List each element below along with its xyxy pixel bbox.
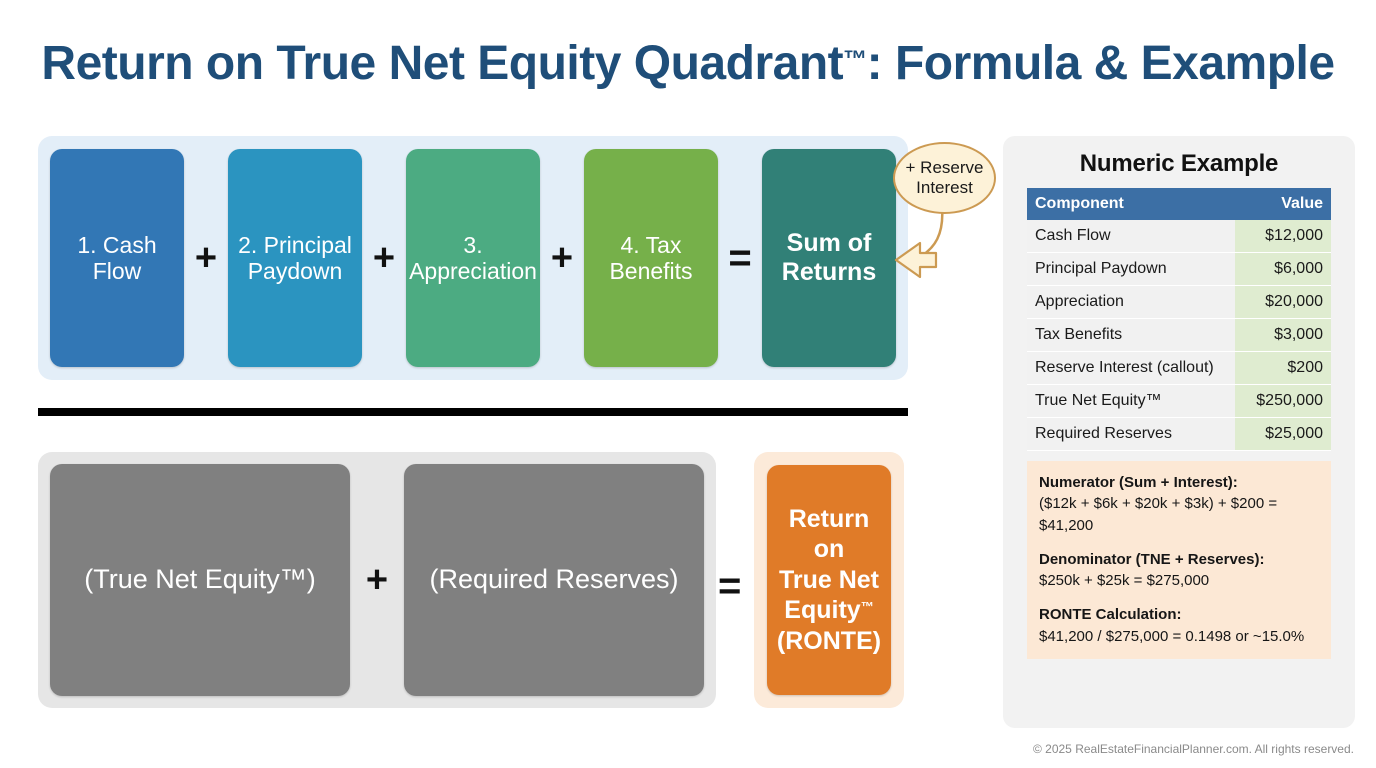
operator-plus-1: +: [189, 237, 223, 280]
row-component: Reserve Interest (callout): [1027, 352, 1235, 385]
note-denominator: Denominator (TNE + Reserves): $250k + $2…: [1039, 549, 1319, 592]
card-tax-benefits-label: 4. Tax Benefits: [584, 232, 718, 285]
note-ronte-heading: RONTE Calculation:: [1039, 606, 1182, 623]
note-numerator-heading: Numerator (Sum + Interest):: [1039, 474, 1238, 491]
row-component: Cash Flow: [1027, 220, 1235, 253]
row-component: Tax Benefits: [1027, 319, 1235, 352]
ronte-line-3: Equity: [784, 596, 860, 624]
table-row: Appreciation $20,000: [1027, 286, 1331, 319]
numeric-example-table: Component Value Cash Flow $12,000 Princi…: [1027, 188, 1331, 451]
operator-plus-2: +: [367, 237, 401, 280]
operator-plus-3: +: [545, 237, 579, 280]
operator-equals-top: =: [723, 236, 757, 281]
card-sum-of-returns-label: Sum of Returns: [762, 229, 896, 287]
card-true-net-equity-label: (True Net Equity™): [84, 564, 316, 595]
note-denominator-heading: Denominator (TNE + Reserves):: [1039, 551, 1264, 568]
row-value: $12,000: [1235, 220, 1331, 253]
card-ronte-result[interactable]: Return on True Net Equity™ (RONTE): [767, 465, 891, 695]
table-row: Required Reserves $25,000: [1027, 418, 1331, 451]
table-header-value: Value: [1235, 188, 1331, 220]
note-ronte-body: $41,200 / $275,000 = 0.1498 or ~15.0%: [1039, 628, 1304, 645]
row-component: Principal Paydown: [1027, 253, 1235, 286]
callout-arrow-icon: [880, 205, 990, 295]
numeric-example-panel: Numeric Example Component Value Cash Flo…: [1003, 136, 1355, 728]
calculation-notes: Numerator (Sum + Interest): ($12k + $6k …: [1027, 461, 1331, 659]
row-value: $6,000: [1235, 253, 1331, 286]
card-cash-flow-label: 1. Cash Flow: [50, 232, 184, 285]
row-component: True Net Equity™: [1027, 385, 1235, 418]
row-value: $25,000: [1235, 418, 1331, 451]
row-value: $20,000: [1235, 286, 1331, 319]
note-denominator-body: $250k + $25k = $275,000: [1039, 572, 1209, 589]
operator-plus-bottom: +: [360, 559, 394, 602]
card-true-net-equity[interactable]: (True Net Equity™): [50, 464, 350, 696]
row-value: $250,000: [1235, 385, 1331, 418]
table-row: Principal Paydown $6,000: [1027, 253, 1331, 286]
bottom-formula-band: (True Net Equity™) + (Required Reserves): [38, 452, 716, 708]
panel-title: Numeric Example: [1027, 150, 1331, 178]
operator-equals-bottom: =: [718, 564, 741, 609]
ronte-line-4: (RONTE): [777, 627, 881, 655]
card-appreciation[interactable]: 3. Appreciation: [406, 149, 540, 367]
infographic-page: Return on True Net Equity Quadrant™: For…: [0, 0, 1376, 768]
card-sum-of-returns[interactable]: Sum of Returns: [762, 149, 896, 367]
table-row: Reserve Interest (callout) $200: [1027, 352, 1331, 385]
ronte-trademark-symbol: ™: [861, 599, 874, 614]
table-header-row: Component Value: [1027, 188, 1331, 220]
row-value: $3,000: [1235, 319, 1331, 352]
reserve-interest-callout-label: + Reserve Interest: [895, 158, 994, 198]
trademark-symbol: ™: [843, 46, 867, 73]
card-principal-paydown[interactable]: 2. Principal Paydown: [228, 149, 362, 367]
table-row: True Net Equity™ $250,000: [1027, 385, 1331, 418]
table-row: Tax Benefits $3,000: [1027, 319, 1331, 352]
ronte-line-1: Return on: [789, 505, 870, 564]
note-numerator-body: ($12k + $6k + $20k + $3k) + $200 = $41,2…: [1039, 495, 1277, 533]
card-cash-flow[interactable]: 1. Cash Flow: [50, 149, 184, 367]
table-header-component: Component: [1027, 188, 1235, 220]
reserve-interest-callout[interactable]: + Reserve Interest: [893, 142, 996, 214]
row-component: Appreciation: [1027, 286, 1235, 319]
row-value: $200: [1235, 352, 1331, 385]
page-title-main: Return on True Net Equity Quadrant: [41, 37, 843, 90]
page-title: Return on True Net Equity Quadrant™: For…: [0, 36, 1376, 91]
card-required-reserves[interactable]: (Required Reserves): [404, 464, 704, 696]
page-title-suffix: : Formula & Example: [867, 37, 1335, 90]
ronte-result-band: Return on True Net Equity™ (RONTE): [754, 452, 904, 708]
copyright-footer: © 2025 RealEstateFinancialPlanner.com. A…: [1033, 742, 1354, 756]
note-ronte: RONTE Calculation: $41,200 / $275,000 = …: [1039, 604, 1319, 647]
card-appreciation-label: 3. Appreciation: [406, 232, 540, 285]
top-formula-band: 1. Cash Flow + 2. Principal Paydown + 3.…: [38, 136, 908, 380]
note-numerator: Numerator (Sum + Interest): ($12k + $6k …: [1039, 472, 1319, 536]
card-principal-paydown-label: 2. Principal Paydown: [228, 232, 362, 285]
card-tax-benefits[interactable]: 4. Tax Benefits: [584, 149, 718, 367]
ronte-line-2: True Net: [779, 566, 879, 594]
card-required-reserves-label: (Required Reserves): [429, 564, 678, 595]
section-divider: [38, 408, 908, 416]
table-row: Cash Flow $12,000: [1027, 220, 1331, 253]
row-component: Required Reserves: [1027, 418, 1235, 451]
